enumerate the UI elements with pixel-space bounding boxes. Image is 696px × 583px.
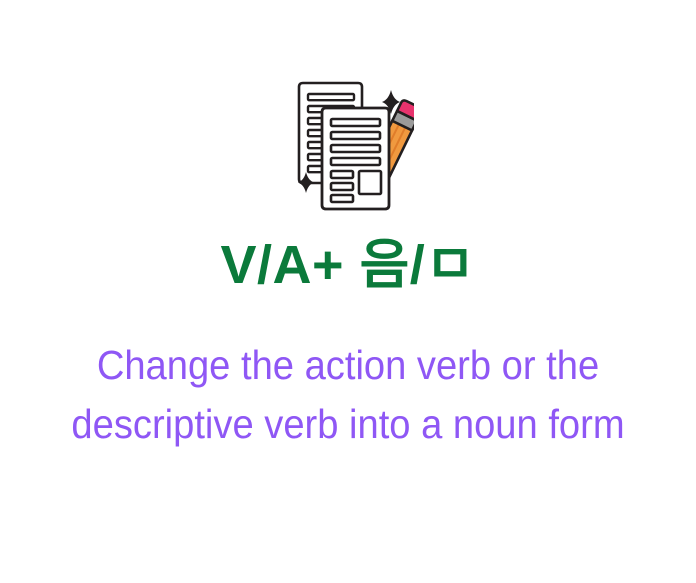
subtitle-line-2: descriptive verb into a noun form — [24, 395, 671, 454]
lesson-slide: V/A+ 음/ㅁ Change the action verb or the d… — [0, 0, 696, 583]
front-document-icon — [322, 108, 389, 209]
illustration-svg — [286, 72, 414, 222]
subtitle-line-1: Change the action verb or the — [24, 336, 671, 395]
documents-and-pencil-illustration — [286, 72, 414, 222]
page-subtitle: Change the action verb or the descriptiv… — [24, 336, 671, 454]
page-title: V/A+ 음/ㅁ — [0, 233, 696, 297]
